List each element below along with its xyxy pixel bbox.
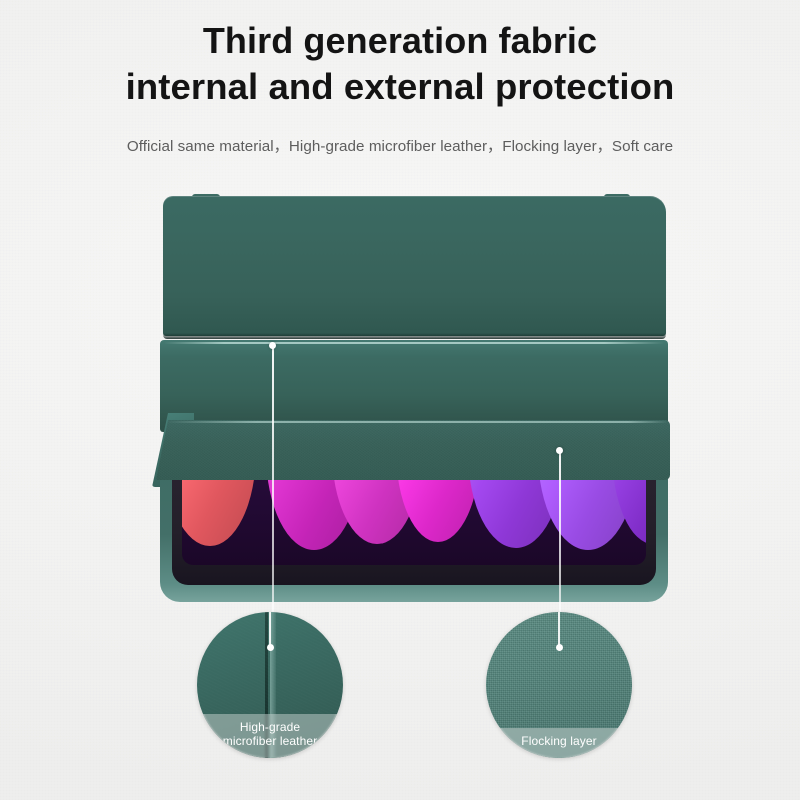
callout-label-line-1: High-grade [201, 720, 339, 734]
headline-line-1: Third generation fabric [203, 20, 597, 61]
callout-leader-line-inner [269, 612, 271, 648]
callout-label-line-1: Flocking layer [490, 734, 628, 748]
leader-dot-right [556, 447, 563, 454]
leader-dot-left [269, 342, 276, 349]
headline-line-2: internal and external protection [24, 64, 776, 110]
page-subtitle: Official same material，High-grade microf… [0, 134, 800, 156]
callout-label-line-2: microfiber leather [201, 734, 339, 748]
cover-lower-panel [160, 340, 668, 432]
front-flap [156, 420, 670, 480]
callout-flocking-layer: Flocking layer [486, 612, 632, 758]
callout-label: High-grade microfiber leather [197, 714, 343, 758]
leader-line-left [272, 345, 274, 640]
page-title: Third generation fabric internal and ext… [0, 18, 800, 110]
callout-label: Flocking layer [486, 728, 632, 758]
callout-microfiber-leather: High-grade microfiber leather [197, 612, 343, 758]
header-block: Third generation fabric internal and ext… [0, 18, 800, 156]
callout-leader-dot-inner [556, 644, 563, 651]
cover-crease-highlight [164, 342, 664, 344]
cover-upper-panel [163, 196, 666, 336]
callout-leader-dot-inner [267, 644, 274, 651]
callout-leader-line-inner [558, 612, 560, 648]
flap-edge-highlight [166, 421, 668, 423]
